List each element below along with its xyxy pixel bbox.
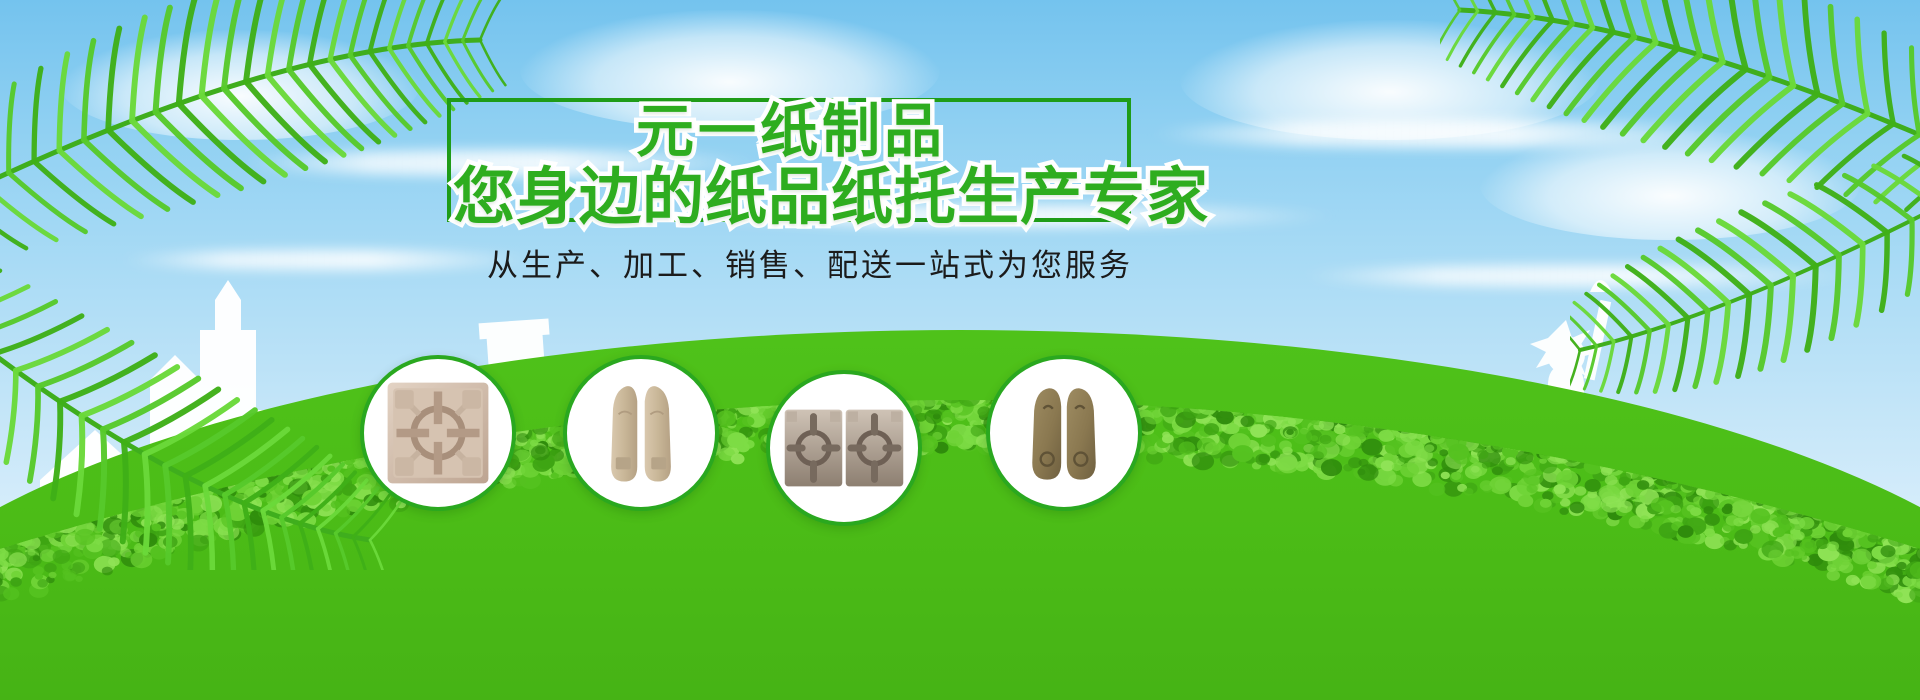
green-hill [0,310,1920,700]
product-circle-1[interactable] [360,355,516,511]
cloud-wisp-icon [1150,120,1750,148]
cloud-icon [1180,20,1600,140]
headline-line-2: 您身边的纸品纸托生产专家 [453,146,1209,236]
product-photo-double-mold [783,403,905,493]
product-photo-shoe-pair [585,377,697,489]
product-circle-3[interactable] [766,370,922,526]
product-photo-tray [382,377,494,489]
hill-bush-texture [0,310,1920,700]
product-circle-4[interactable] [986,355,1142,511]
cloud-icon [60,30,420,140]
product-photo-shoe-form-pair [1008,377,1120,489]
product-circle-2[interactable] [563,355,719,511]
promo-banner: 元一纸制品 您身边的纸品纸托生产专家 从生产、加工、销售、配送一站式为您服务 [0,0,1920,700]
subtitle-text: 从生产、加工、销售、配送一站式为您服务 [487,240,1133,285]
